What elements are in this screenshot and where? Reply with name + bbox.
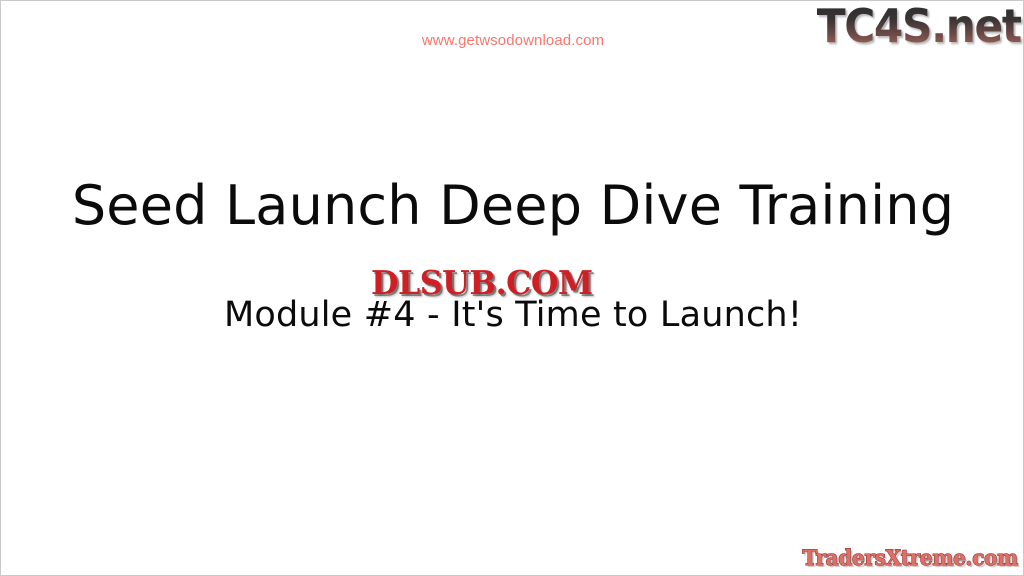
watermark-tradersxtreme-com: TradersXtreme.com — [802, 544, 1018, 572]
presentation-slide: www.getwsodownload.com TC4S.net Seed Lau… — [0, 0, 1024, 576]
watermark-dlsub-com: DLSUB.COM — [371, 263, 593, 303]
watermark-tc4s-logo: TC4S.net — [817, 0, 1021, 52]
slide-title: Seed Launch Deep Dive Training — [1, 173, 1024, 239]
